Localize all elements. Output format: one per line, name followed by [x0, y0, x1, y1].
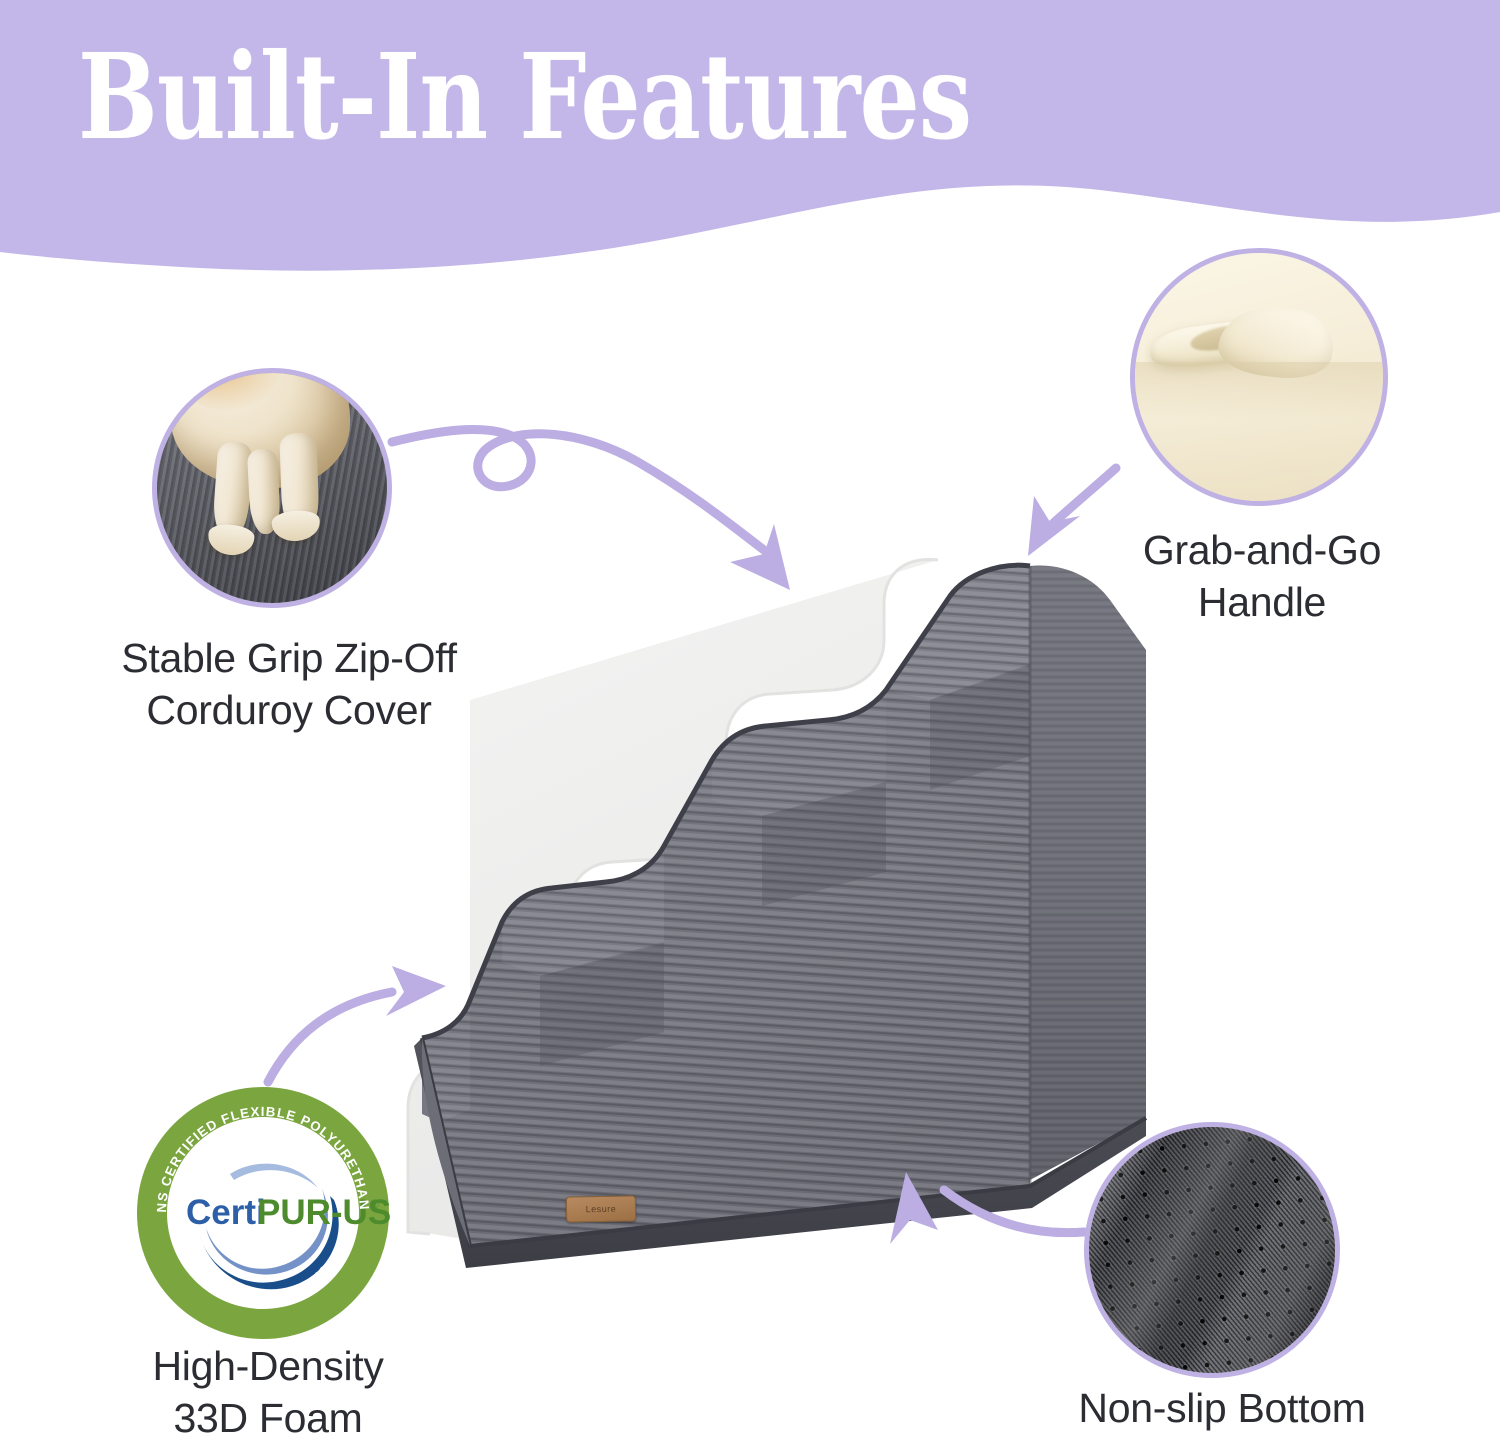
- non-slip-fabric-image: [1089, 1127, 1335, 1373]
- carry-handle-image: [1135, 253, 1383, 501]
- callout-circle-stable-grip: [152, 368, 392, 608]
- badge-wordmark-certi: Certi: [186, 1193, 266, 1232]
- callout-label-high-density-foam: High-Density 33D Foam: [48, 1340, 488, 1445]
- arrow-stable-grip: [392, 429, 772, 556]
- certipur-us-badge: Certi PUR-US ® CONTAINS CERTIFIED FLEXIB…: [134, 1084, 392, 1342]
- brand-label-tag: Lesure: [566, 1195, 636, 1222]
- arrow-high-density-foam: [268, 992, 392, 1082]
- infographic-canvas: Built-In Features: [0, 0, 1500, 1453]
- arrow-grab-and-go: [1048, 468, 1116, 528]
- callout-circle-grab-and-go: [1130, 248, 1388, 506]
- dog-paws-on-corduroy-image: [157, 373, 387, 603]
- callout-label-grab-and-go: Grab-and-Go Handle: [1062, 524, 1462, 629]
- brand-label-text: Lesure: [586, 1204, 617, 1215]
- callout-label-stable-grip: Stable Grip Zip-Off Corduroy Cover: [54, 632, 524, 737]
- handle-shading: [1135, 362, 1383, 501]
- callout-circle-non-slip: [1084, 1122, 1340, 1378]
- callout-label-non-slip: Non-slip Bottom: [1012, 1382, 1432, 1434]
- non-slip-sheen: [1089, 1127, 1335, 1373]
